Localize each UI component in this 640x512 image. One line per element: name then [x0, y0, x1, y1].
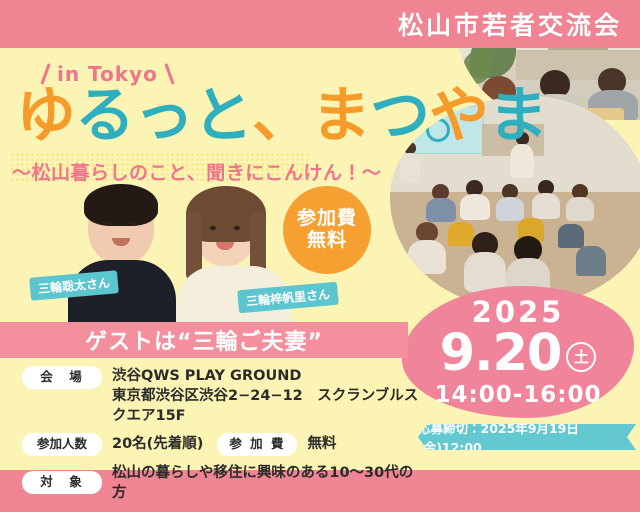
hero-title-char-0: ゆ [16, 86, 75, 146]
hero-title-char-7: や [429, 86, 488, 146]
venue-value: 渋谷QWS PLAY GROUND 東京都渋谷区渋谷2−24−12 スクランブル… [112, 366, 422, 426]
free-fee-badge: 参加費 無料 [283, 186, 371, 274]
top-wave-divider [0, 40, 640, 58]
target-label: 対 象 [22, 471, 102, 494]
hero-title-char-6: つ [370, 86, 429, 146]
event-day: 9.20 土 [440, 328, 597, 379]
event-year: 2025 [472, 298, 565, 327]
detail-row-venue: 会 場 渋谷QWS PLAY GROUND 東京都渋谷区渋谷2−24−12 スク… [22, 366, 422, 426]
fee-value: 無料 [307, 434, 336, 454]
hero-title-char-4: 、 [252, 86, 311, 146]
free-badge-line1: 参加費 [297, 208, 357, 230]
event-details: 会 場 渋谷QWS PLAY GROUND 東京都渋谷区渋谷2−24−12 スク… [22, 366, 422, 510]
deadline-label: 応募締切：2025年9月19日(金)12:00 [418, 418, 636, 456]
venue-label: 会 場 [22, 366, 102, 389]
hero-title-char-3: と [193, 86, 252, 146]
application-deadline-ribbon: 応募締切：2025年9月19日(金)12:00 [418, 424, 636, 450]
guest-banner-label: ゲストは“三輪ご夫妻” [85, 324, 323, 356]
hero-title: ゆるっと、まつやま [16, 86, 547, 146]
free-badge-line2: 無料 [307, 230, 347, 252]
capacity-label: 参加人数 [22, 433, 102, 456]
target-value: 松山の暮らしや移住に興味のある10〜30代の方 [112, 463, 422, 503]
event-day-of-week: 土 [566, 342, 596, 372]
fee-label: 参 加 費 [217, 433, 297, 456]
guest-banner: ゲストは“三輪ご夫妻” [0, 322, 408, 358]
detail-row-capacity-fee: 参加人数 20名(先着順) 参 加 費 無料 [22, 433, 422, 456]
hero-subtitle: 〜松山暮らしのこと、聞きにこんけん！〜 [12, 158, 381, 185]
venue-line1: 渋谷QWS PLAY GROUND [112, 366, 422, 386]
hero-title-char-8: ま [488, 86, 547, 146]
venue-line2: 東京都渋谷区渋谷2−24−12 スクランブルスクエア15F [112, 386, 422, 426]
page-title: 松山市若者交流会 [398, 6, 622, 42]
flyer-canvas: 松山市若者交流会 in Tokyo ゆるっと、まつやま 〜松山暮らしのこと、聞き… [0, 0, 640, 512]
hero-title-char-1: る [75, 86, 134, 146]
event-day-number: 9.20 [440, 328, 562, 379]
capacity-value: 20名(先着順) [112, 434, 203, 454]
hero-title-char-2: っ [134, 86, 193, 146]
event-time: 14:00-16:00 [435, 384, 602, 407]
detail-row-target: 対 象 松山の暮らしや移住に興味のある10〜30代の方 [22, 463, 422, 503]
hero-title-char-5: ま [311, 86, 370, 146]
